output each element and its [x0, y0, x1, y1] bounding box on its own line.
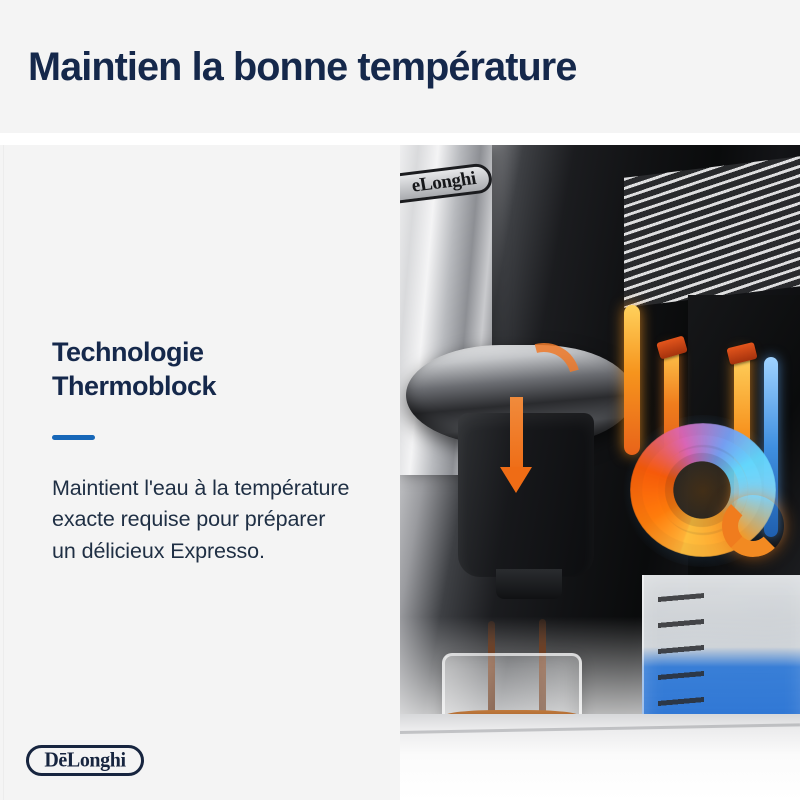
- brew-group-body: [458, 413, 594, 577]
- panel-left-rule: [3, 145, 4, 800]
- page-title: Maintien la bonne température: [28, 45, 576, 89]
- page-root: Maintien la bonne température Technologi…: [0, 0, 800, 800]
- machine-vent-grille: [624, 156, 800, 308]
- feature-heading-line-1: Technologie: [52, 337, 204, 367]
- photo-scene: eLonghi: [400, 145, 800, 800]
- feature-heading-line-2: Thermoblock: [52, 371, 216, 401]
- pipe-clamp-left: [656, 335, 688, 359]
- hot-pipe-left: [624, 305, 640, 455]
- delonghi-logo: DēLonghi: [26, 745, 144, 776]
- feature-heading: Technologie Thermoblock: [52, 335, 352, 404]
- header-divider: [0, 133, 800, 145]
- feature-description: Maintient l'eau à la température exacte …: [52, 473, 352, 568]
- coffee-spouts: [496, 569, 562, 599]
- flow-arrow-shaft-icon: [510, 397, 523, 473]
- page-header: Maintien la bonne température: [0, 0, 800, 133]
- machine-brand-badge-text: eLonghi: [410, 168, 478, 198]
- thermoblock-coil-bend: [722, 495, 784, 557]
- thermoblock-assembly: [612, 305, 792, 595]
- product-photo: eLonghi: [400, 145, 800, 800]
- flow-arrow-head-icon: [500, 467, 532, 493]
- feature-copy-block: Technologie Thermoblock Maintient l'eau …: [52, 335, 352, 567]
- delonghi-wordmark: DēLonghi: [44, 749, 125, 771]
- pipe-clamp-right: [726, 342, 757, 365]
- content-panel: Technologie Thermoblock Maintient l'eau …: [0, 145, 400, 800]
- accent-divider-bar: [52, 435, 95, 440]
